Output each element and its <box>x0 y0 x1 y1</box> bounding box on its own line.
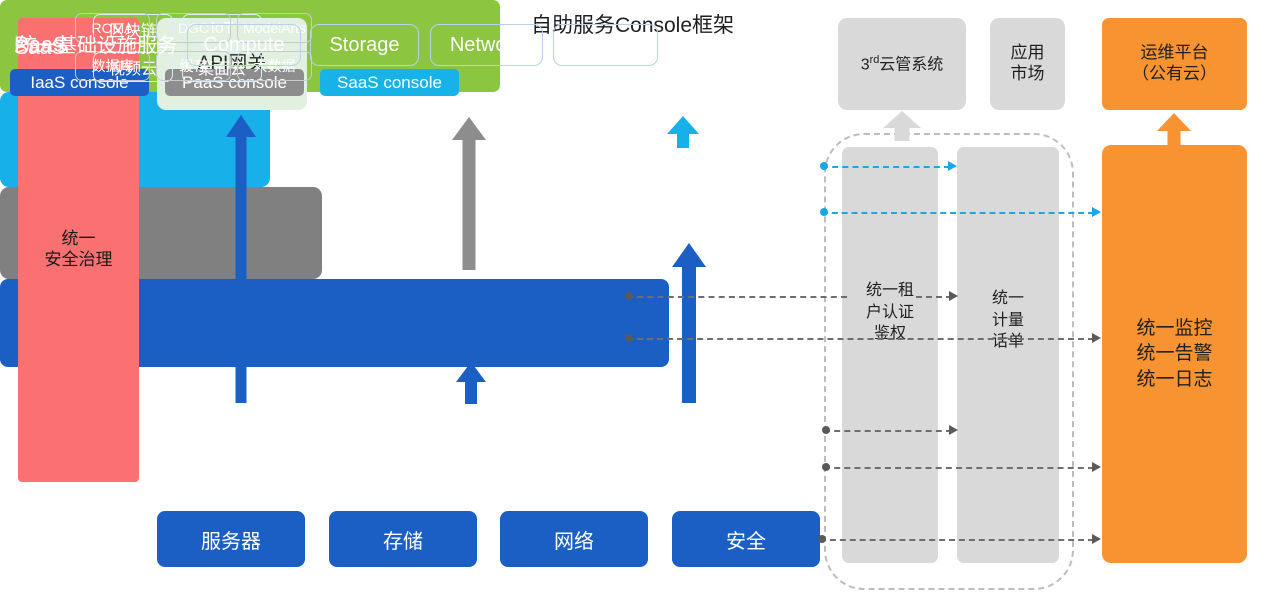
dashed-auth-to-metering <box>916 296 952 298</box>
dashed-paas-to-auth <box>627 296 847 298</box>
hardware-box-server-label: 服务器 <box>201 525 261 554</box>
dashed-hardware-to-ops-arrowhead <box>1092 534 1101 544</box>
hardware-box-network: 网络 <box>500 511 648 567</box>
dashed-paas-to-ops-arrowhead <box>1092 333 1101 343</box>
infra-chip-cce-label: CCE <box>584 34 626 57</box>
infra-chip-network[interactable]: Network <box>430 24 543 66</box>
ops-platform-public-cloud-label: 运维平台 （公有云） <box>1132 43 1217 84</box>
security-governance-label: 统一 安全治理 <box>45 229 113 270</box>
hardware-box-network-label: 网络 <box>554 525 594 554</box>
unified-monitoring-panel: 统一监控 统一告警 统一日志 <box>1102 145 1247 563</box>
arrow-group-to-third-party-cloud <box>883 111 921 141</box>
metering-billing-label: 统一 计量 话单 <box>957 288 1059 353</box>
dashed-hardware-to-ops <box>820 539 1094 541</box>
dashed-saas-to-ops <box>822 212 1094 214</box>
hardware-box-server: 服务器 <box>157 511 305 567</box>
infra-chip-compute[interactable]: Compute <box>187 24 301 66</box>
architecture-diagram: 统一 安全治理 API网关 自助服务Console框架 IaaS console… <box>0 0 1265 605</box>
infra-chip-storage-label: Storage <box>329 34 399 57</box>
third-party-cloud-management-box: 3rd云管系统 <box>838 18 966 110</box>
infra-chip-storage[interactable]: Storage <box>310 24 419 66</box>
tenant-auth-label: 统一租 户认证 鉴权 <box>842 280 938 345</box>
dashed-paas-to-ops-start-dot <box>625 334 633 342</box>
dashed-saas-to-ops-arrowhead <box>1092 207 1101 217</box>
dashed-paas-to-ops <box>627 338 1094 340</box>
saas-console-label: SaaS console <box>337 73 442 93</box>
dashed-saas-to-auth-start-dot <box>820 162 828 170</box>
dashed-infra-to-ops-start-dot <box>822 463 830 471</box>
dashed-infra-to-metering <box>824 430 952 432</box>
paas-chip-database-label: 数据库 <box>92 56 134 76</box>
metering-billing-column <box>957 147 1059 563</box>
dashed-paas-to-auth-start-dot <box>625 292 633 300</box>
dashed-saas-to-ops-start-dot <box>820 208 828 216</box>
hardware-box-security: 安全 <box>672 511 820 567</box>
hardware-box-storage: 存储 <box>329 511 477 567</box>
ops-platform-public-cloud-box: 运维平台 （公有云） <box>1102 18 1247 110</box>
dashed-infra-to-metering-arrowhead <box>949 425 958 435</box>
infra-chip-network-label: Network <box>450 34 523 57</box>
dashed-saas-to-auth <box>822 166 950 168</box>
dashed-infra-to-ops <box>824 467 1094 469</box>
dashed-saas-to-auth-arrowhead <box>948 161 957 171</box>
hardware-box-storage-label: 存储 <box>383 525 423 554</box>
arrow-infra-to-api-gateway <box>226 115 256 403</box>
tenant-auth-column <box>842 147 938 563</box>
dashed-infra-to-ops-arrowhead <box>1092 462 1101 472</box>
dashed-auth-to-metering-arrowhead <box>949 291 958 301</box>
infra-chip-compute-label: Compute <box>203 34 284 57</box>
unified-monitoring-label: 统一监控 统一告警 统一日志 <box>1136 316 1212 393</box>
infra-chip-cce[interactable]: CCE <box>553 24 658 66</box>
arrow-infra-to-paas <box>456 362 486 404</box>
arrow-ops-panel-to-ops-platform <box>1157 113 1191 146</box>
app-market-label: 应用 市场 <box>1011 43 1045 84</box>
dashed-hardware-to-ops-start-dot <box>818 535 826 543</box>
dashed-infra-to-metering-start-dot <box>822 426 830 434</box>
arrow-saas-to-console <box>667 116 699 148</box>
arrow-paas-to-console <box>452 117 486 270</box>
arrow-infra-to-saas <box>672 243 706 403</box>
app-market-box: 应用 市场 <box>990 18 1065 110</box>
third-party-cloud-label: 3rd云管系统 <box>861 54 944 75</box>
hardware-box-security-label: 安全 <box>726 525 766 554</box>
saas-console-chip[interactable]: SaaS console <box>320 69 459 96</box>
unified-infrastructure-label: 统一基础设施服务 <box>17 29 177 58</box>
